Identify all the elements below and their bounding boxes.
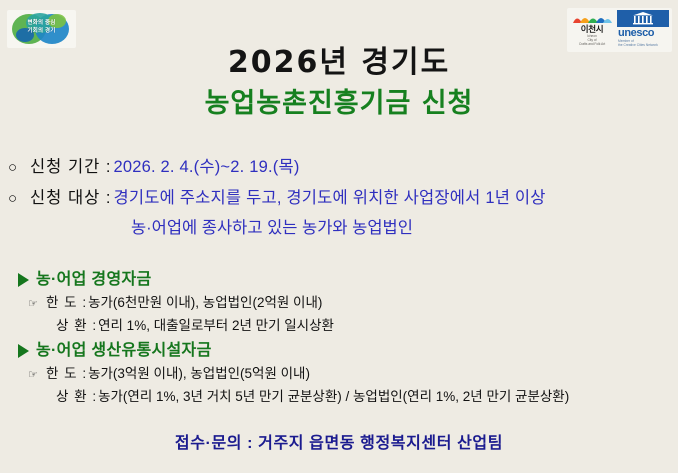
funding-row-production-limit-text: 농가(3억원 이내), 농업법인(5억원 이내) bbox=[88, 363, 310, 385]
info-label-eligibility: 신청 대상 : bbox=[30, 183, 111, 213]
info-value-eligibility: 경기도에 주소지를 두고, 경기도에 위치한 사업장에서 1년 이상 bbox=[113, 183, 545, 213]
funding-row-production-limit: ☞ 한 도 : 농가(3억원 이내), 농업법인(5억원 이내) bbox=[18, 363, 678, 386]
triangle-marker-icon bbox=[18, 273, 29, 287]
funding-row-production-repayment: 상 환 : 농가(연리 1%, 3년 거치 5년 만기 균분상환) / 농업법인… bbox=[18, 386, 678, 408]
funding-sections: 농·어업 경영자금 ☞ 한 도 : 농가(6천만원 이내), 농업법인(2억원 … bbox=[18, 268, 678, 410]
bullet-circle-icon: ○ bbox=[8, 184, 30, 214]
unesco-temple-icon bbox=[632, 12, 654, 25]
funding-row-production-repayment-text: 농가(연리 1%, 3년 거치 5년 만기 균분상환) / 농업법인(연리 1%… bbox=[98, 386, 569, 408]
triangle-marker-icon bbox=[18, 344, 29, 358]
funding-section-management-heading: 농·어업 경영자금 bbox=[18, 268, 678, 292]
icheon-city-name: 이천시 bbox=[581, 24, 604, 34]
gyeonggi-logo-text: 변화의 중심 기회의 경기 bbox=[7, 19, 76, 35]
title-line-program: 농업농촌진흥기금 신청 bbox=[0, 86, 678, 122]
pointing-hand-icon: ☞ bbox=[28, 293, 46, 315]
pointing-hand-icon: ☞ bbox=[28, 364, 46, 386]
funding-row-management-limit: ☞ 한 도 : 농가(6천만원 이내), 농업법인(2억원 이내) bbox=[18, 292, 678, 315]
funding-section-management: 농·어업 경영자금 ☞ 한 도 : 농가(6천만원 이내), 농업법인(2억원 … bbox=[18, 268, 678, 337]
funding-row-production-repayment-label: 상 환 : bbox=[56, 386, 97, 408]
funding-section-production: 농·어업 생산유통시설자금 ☞ 한 도 : 농가(3억원 이내), 농업법인(5… bbox=[18, 339, 678, 408]
poster-canvas: 변화의 중심 기회의 경기 이천시 Icheon City of Crafts … bbox=[0, 0, 678, 473]
info-label-application-period: 신청 기간 : bbox=[30, 152, 111, 182]
funding-section-production-title: 농·어업 생산유통시설자금 bbox=[36, 339, 212, 363]
info-row-application-period: ○ 신청 기간 : 2026. 2. 4.(수)~2. 19.(목) bbox=[8, 152, 678, 183]
funding-row-management-repayment-text: 연리 1%, 대출일로부터 2년 만기 일시상환 bbox=[98, 315, 334, 337]
unesco-wordmark: unesco bbox=[617, 27, 669, 39]
funding-row-management-repayment-label: 상 환 : bbox=[56, 315, 97, 337]
info-list: ○ 신청 기간 : 2026. 2. 4.(수)~2. 19.(목) ○ 신청 … bbox=[8, 152, 678, 242]
info-value-application-period: 2026. 2. 4.(수)~2. 19.(목) bbox=[113, 152, 299, 182]
icheon-arcs-icon bbox=[571, 12, 613, 24]
info-value-eligibility-continued: 농·어업에 종사하고 있는 농가와 농업법인 bbox=[8, 214, 678, 242]
funding-row-management-limit-label: 한 도 : bbox=[46, 292, 87, 314]
title-line-year-region: 2026년 경기도 bbox=[0, 44, 678, 82]
page-title: 2026년 경기도 농업농촌진흥기금 신청 bbox=[0, 44, 678, 122]
funding-row-management-limit-text: 농가(6천만원 이내), 농업법인(2억원 이내) bbox=[88, 292, 322, 314]
funding-row-management-repayment: 상 환 : 연리 1%, 대출일로부터 2년 만기 일시상환 bbox=[18, 315, 678, 337]
funding-section-management-title: 농·어업 경영자금 bbox=[36, 268, 152, 292]
footer-contact: 접수·문의 : 거주지 읍면동 행정복지센터 산업팀 bbox=[0, 432, 678, 456]
funding-section-production-heading: 농·어업 생산유통시설자금 bbox=[18, 339, 678, 363]
gyeonggi-province-logo: 변화의 중심 기회의 경기 bbox=[7, 10, 76, 48]
bullet-circle-icon: ○ bbox=[8, 153, 30, 183]
info-row-eligibility: ○ 신청 대상 : 경기도에 주소지를 두고, 경기도에 위치한 사업장에서 1… bbox=[8, 183, 678, 214]
unesco-emblem-band bbox=[617, 10, 669, 27]
funding-row-production-limit-label: 한 도 : bbox=[46, 363, 87, 385]
